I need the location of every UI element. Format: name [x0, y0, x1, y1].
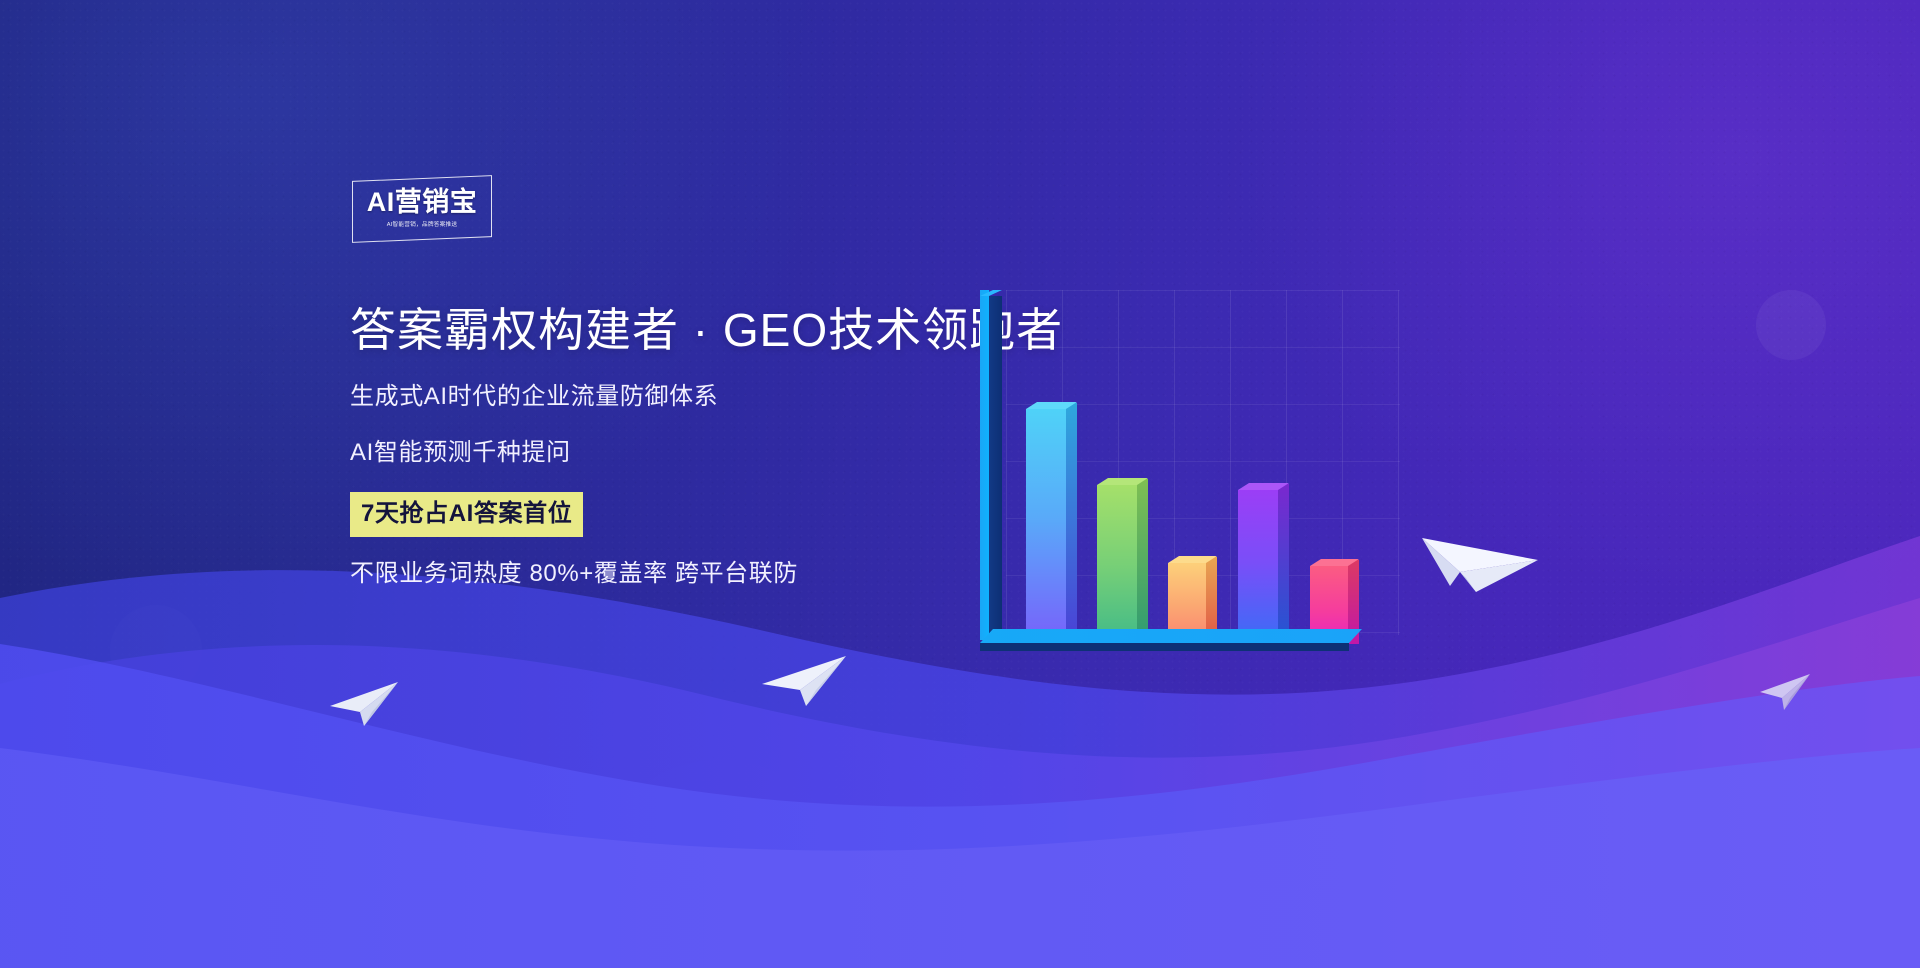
logo-tagline: AI智能营销，品牌答案推送 — [363, 219, 481, 228]
chart-bar-face — [1026, 409, 1066, 650]
bar-chart-illustration — [980, 290, 1400, 665]
chart-y-axis-side — [989, 296, 1002, 642]
chart-bar-face — [1238, 490, 1278, 650]
chart-base-front — [980, 643, 1349, 651]
chart-bar-side — [1137, 479, 1148, 644]
chart-bar-side — [1066, 403, 1077, 644]
brand-logo[interactable]: AI营销宝 AI智能营销，品牌答案推送 — [352, 178, 492, 240]
subline-1: 生成式AI时代的企业流量防御体系 — [350, 380, 1030, 414]
subline-2: AI智能预测千种提问 — [350, 436, 1030, 470]
chart-bar-side — [1278, 484, 1289, 644]
highlight-wrap: 7天抢占AI答案首位 — [350, 492, 1030, 537]
page-title: 答案霸权构建者 · GEO技术领跑者 — [350, 300, 1030, 360]
chart-bar — [1026, 409, 1066, 650]
decor-circle — [1756, 290, 1826, 360]
chart-base-top — [980, 629, 1362, 643]
chart-bar-face — [1097, 485, 1137, 650]
subline-3: 不限业务词热度 80%+覆盖率 跨平台联防 — [350, 557, 1030, 591]
logo-wordmark: AI营销宝 — [360, 187, 484, 217]
chart-y-axis — [980, 290, 989, 640]
chart-bar — [1097, 485, 1137, 650]
chart-bar — [1238, 490, 1278, 650]
hero-banner: AI营销宝 AI智能营销，品牌答案推送 答案霸权构建者 · GEO技术领跑者 生… — [0, 0, 1920, 968]
highlight-badge: 7天抢占AI答案首位 — [350, 492, 583, 537]
copy-block: 答案霸权构建者 · GEO技术领跑者 生成式AI时代的企业流量防御体系 AI智能… — [350, 300, 1030, 591]
